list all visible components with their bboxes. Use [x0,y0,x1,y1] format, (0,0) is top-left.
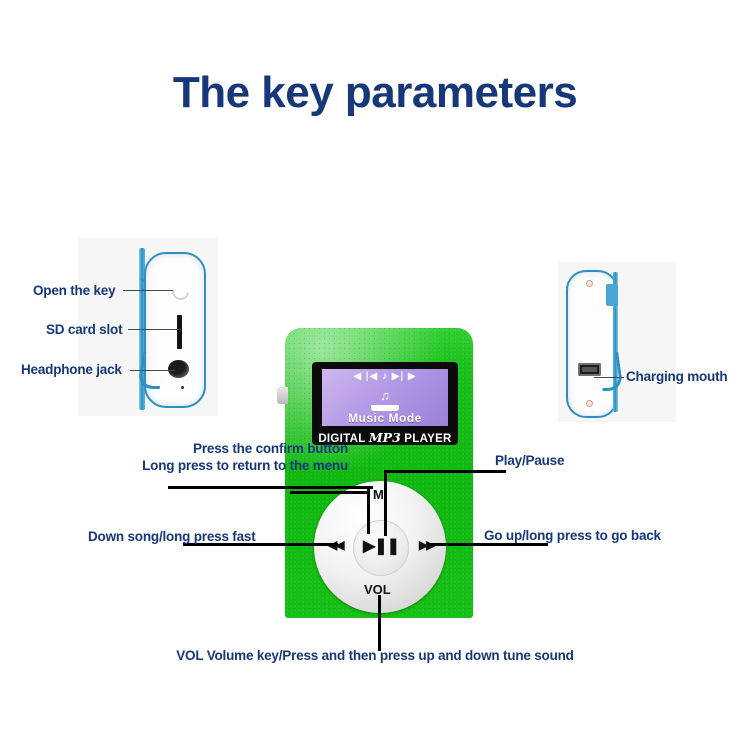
label-go-up: Go up/long press to go back [484,527,661,544]
label-charging-mouth: Charging mouth [626,368,727,385]
brand-suffix: PLAYER [401,433,452,445]
lcd-status-icons: ◀ |◀ ♪ ▶| ▶ [322,371,448,383]
label-confirm-button-line2: Long press to return to the menu [63,457,348,474]
leader-line-charging-mouth [594,377,624,378]
body-screw-dot [181,386,184,389]
lcd-mode-caption: Music Mode [322,411,448,425]
lcd-screen: ◀ |◀ ♪ ▶| ▶ ♫ Music Mode [322,369,448,426]
label-down-song: Down song/long press fast [88,528,256,545]
brand-mp3: MP3 [369,430,401,445]
label-open-the-key: Open the key [33,282,115,299]
leader-line-play-pause-vertical [384,470,387,536]
leader-line-volume [378,595,381,651]
page-title: The key parameters [0,68,750,118]
leader-line-confirm-button [168,486,373,489]
label-volume-key: VOL Volume key/Press and then press up a… [0,647,750,664]
leader-line-sd-card-slot [128,329,181,330]
headphone-jack-port [168,360,189,378]
label-confirm-button-line1: Press the confirm button [63,440,348,457]
leader-line-play-pause [386,470,506,473]
screw-top-icon [586,280,593,287]
screw-bottom-icon [586,400,593,407]
side-switch-button[interactable] [277,387,288,404]
label-headphone-jack: Headphone jack [21,361,122,378]
leader-line-menu-button [290,491,368,494]
infographic-canvas: The key parameters Open the key SD card … [0,0,750,750]
label-sd-card-slot: SD card slot [46,321,122,338]
music-note-icon: ♫ [322,389,448,403]
charging-port-inner [582,367,597,372]
menu-button-label[interactable]: M [373,487,384,502]
sd-card-slot [177,315,182,349]
play-pause-icon[interactable]: ▶❚❚ [353,536,409,556]
leader-line-headphone-jack [130,370,175,371]
right-device-clip-tab [606,284,618,306]
leader-line-open-key [123,290,173,291]
label-confirm-button: Press the confirm button Long press to r… [63,440,348,474]
label-play-pause: Play/Pause [495,452,564,469]
